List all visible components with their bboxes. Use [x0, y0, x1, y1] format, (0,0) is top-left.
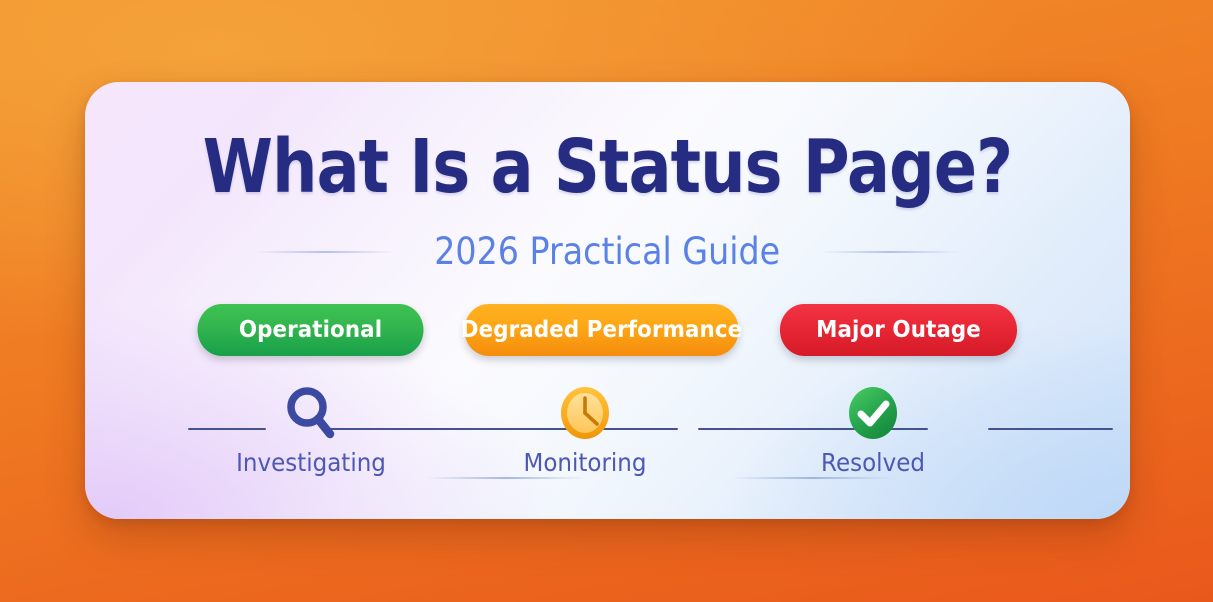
infographic-canvas: What Is a Status Page? 2026 Practical Gu… [0, 0, 1213, 602]
status-badge-major-outage[interactable]: Major Outage [780, 304, 1017, 356]
status-page-card: What Is a Status Page? 2026 Practical Gu… [85, 82, 1130, 519]
timeline-stage-monitoring[interactable]: Monitoring [490, 382, 680, 477]
page-subtitle: 2026 Practical Guide [435, 230, 781, 273]
subtitle-rule-left [255, 251, 395, 253]
subtitle-rule-right [820, 251, 960, 253]
clock-icon [490, 382, 680, 444]
timeline-stage-investigating[interactable]: Investigating [216, 382, 406, 477]
status-badge-major-outage-label: Major Outage [816, 317, 981, 343]
subtitle-row: 2026 Practical Guide [85, 230, 1130, 273]
incident-timeline: Investigating [188, 382, 1027, 492]
status-badge-degraded-performance-label: Degraded Performance [461, 317, 742, 343]
timeline-stage-investigating-label: Investigating [224, 448, 399, 477]
status-badge-operational[interactable]: Operational [198, 304, 424, 356]
check-circle-icon [778, 382, 968, 444]
timeline-stage-monitoring-label: Monitoring [498, 448, 673, 477]
magnifying-glass-icon [216, 382, 406, 444]
page-title: What Is a Status Page? [158, 130, 1057, 204]
timeline-stage-resolved[interactable]: Resolved [778, 382, 968, 477]
status-badge-group: Operational Degraded Performance Major O… [85, 304, 1130, 356]
status-badge-degraded-performance[interactable]: Degraded Performance [464, 304, 738, 356]
status-badge-operational-label: Operational [239, 317, 382, 343]
timeline-stage-resolved-label: Resolved [786, 448, 961, 477]
